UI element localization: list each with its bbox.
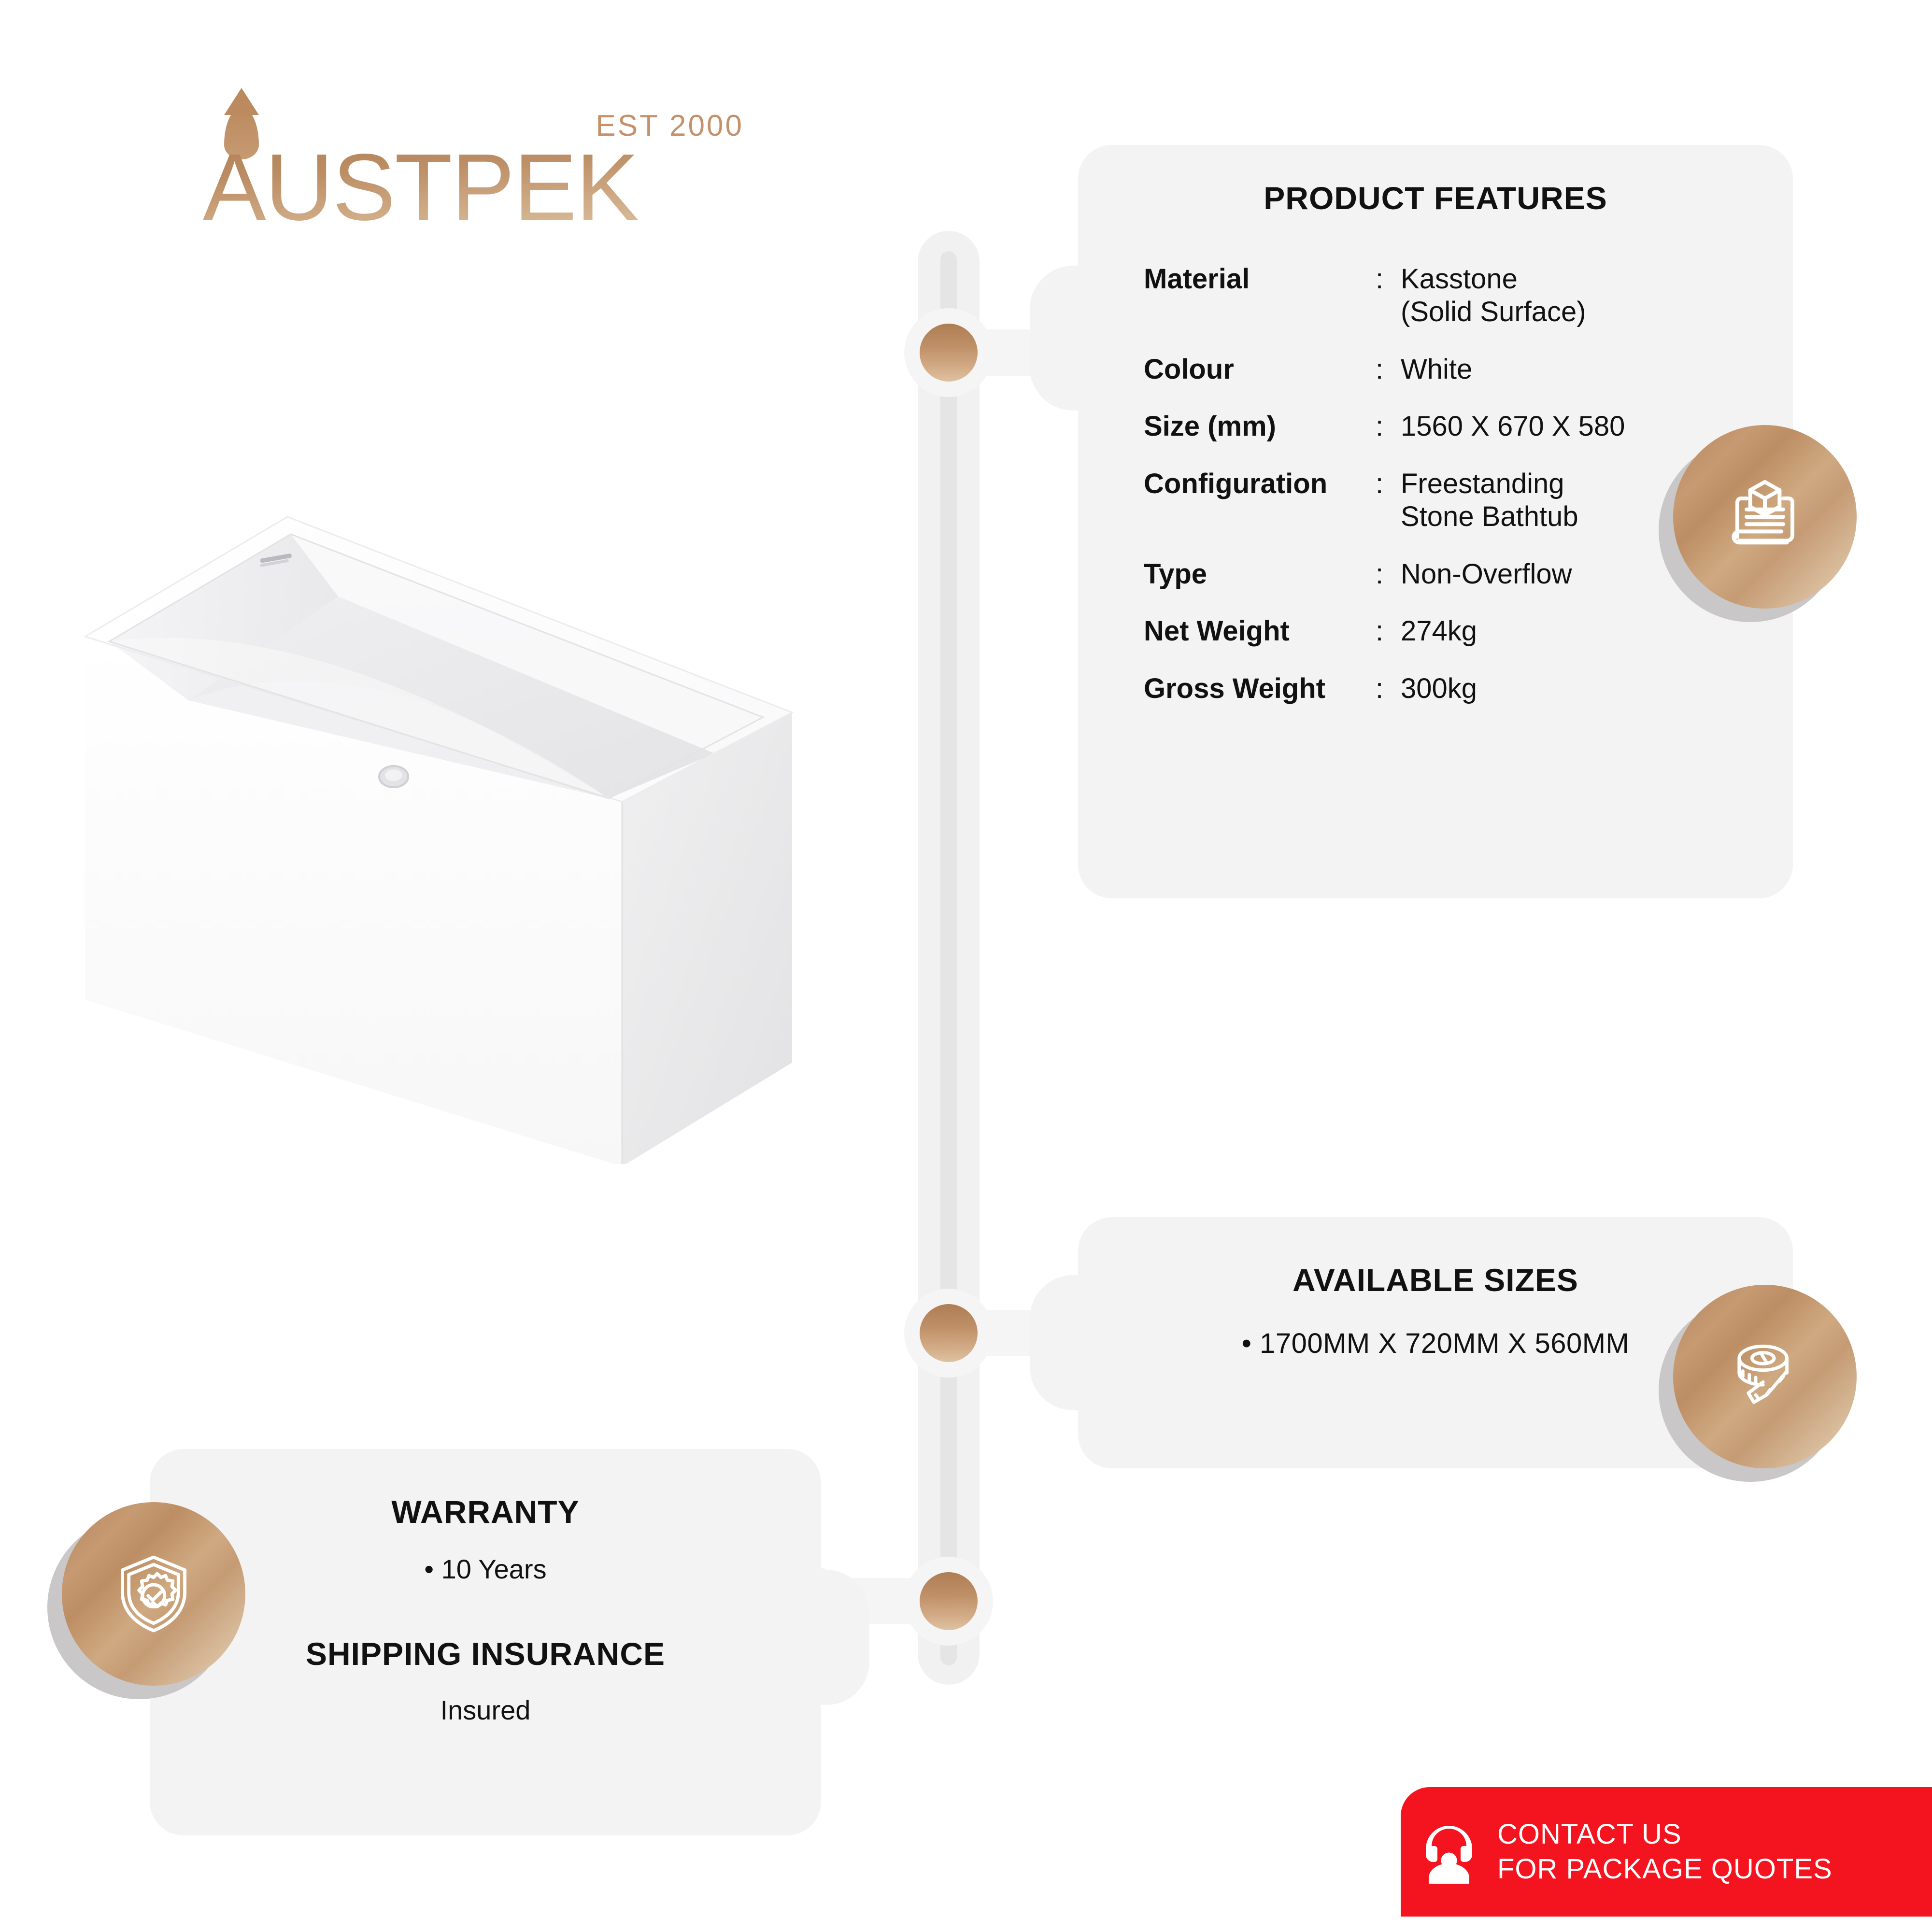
timeline-node-features[interactable] — [904, 308, 993, 397]
warranty-item: • 10 Years — [150, 1553, 821, 1585]
product-image-bathtub — [68, 512, 840, 1164]
feature-value: 300kg — [1401, 672, 1477, 705]
available-sizes-title: AVAILABLE SIZES — [1078, 1262, 1793, 1298]
feature-colon: : — [1376, 558, 1401, 591]
timeline-node-warranty[interactable] — [904, 1557, 993, 1646]
feature-colon: : — [1376, 672, 1401, 705]
table-row: Colour : White — [1144, 353, 1793, 386]
feature-colon: : — [1376, 468, 1401, 500]
feature-value: White — [1401, 353, 1472, 386]
contact-us-banner[interactable]: CONTACT US FOR PACKAGE QUOTES — [1401, 1787, 1932, 1917]
shield-check-icon — [62, 1502, 245, 1686]
feature-value: 274kg — [1401, 615, 1477, 648]
feature-colon: : — [1376, 353, 1401, 386]
panel-connector-tab — [1030, 266, 1117, 411]
brand-name: AUSTPEK — [203, 140, 638, 235]
feature-key: Configuration — [1144, 468, 1376, 500]
panel-connector-tab — [1030, 1275, 1117, 1410]
shipping-insurance-title: SHIPPING INSURANCE — [150, 1635, 821, 1672]
brand-logo: EST 2000 AUSTPEK — [203, 121, 744, 270]
timeline-node-sizes[interactable] — [904, 1289, 993, 1378]
product-features-title: PRODUCT FEATURES — [1078, 180, 1793, 216]
panel-warranty: WARRANTY • 10 Years SHIPPING INSURANCE I… — [150, 1449, 821, 1835]
contact-line-2: FOR PACKAGE QUOTES — [1497, 1852, 1833, 1887]
shipping-insurance-value: Insured — [150, 1694, 821, 1726]
table-row: Material : Kasstone (Solid Surface) — [1144, 263, 1793, 329]
feature-key: Colour — [1144, 353, 1376, 386]
contact-line-1: CONTACT US — [1497, 1817, 1833, 1852]
feature-key: Gross Weight — [1144, 672, 1376, 705]
feature-value: Freestanding Stone Bathtub — [1401, 468, 1578, 534]
contact-us-text: CONTACT US FOR PACKAGE QUOTES — [1497, 1817, 1833, 1887]
timeline-node-dot — [920, 1304, 978, 1362]
feature-value: 1560 X 670 X 580 — [1401, 410, 1625, 443]
warranty-title: WARRANTY — [150, 1493, 821, 1530]
table-row: Size (mm) : 1560 X 670 X 580 — [1144, 410, 1793, 443]
feature-colon: : — [1376, 410, 1401, 443]
panel-connector-tab — [782, 1570, 869, 1705]
measuring-tape-icon — [1673, 1285, 1857, 1468]
feature-key: Net Weight — [1144, 615, 1376, 648]
headset-support-agent-icon — [1401, 1816, 1497, 1888]
table-row: Gross Weight : 300kg — [1144, 672, 1793, 705]
feature-value: Kasstone (Solid Surface) — [1401, 263, 1586, 329]
feature-key: Size (mm) — [1144, 410, 1376, 443]
feature-key: Material — [1144, 263, 1376, 296]
feature-colon: : — [1376, 263, 1401, 296]
product-spec-scroll-icon — [1673, 425, 1857, 609]
timeline-node-dot — [920, 324, 978, 382]
table-row: Net Weight : 274kg — [1144, 615, 1793, 648]
feature-value: Non-Overflow — [1401, 558, 1572, 591]
infographic-canvas: EST 2000 AUSTPEK — [0, 0, 1932, 1932]
feature-key: Type — [1144, 558, 1376, 591]
timeline-rail-inner — [940, 251, 957, 1665]
timeline-node-dot — [920, 1572, 978, 1630]
feature-colon: : — [1376, 615, 1401, 648]
